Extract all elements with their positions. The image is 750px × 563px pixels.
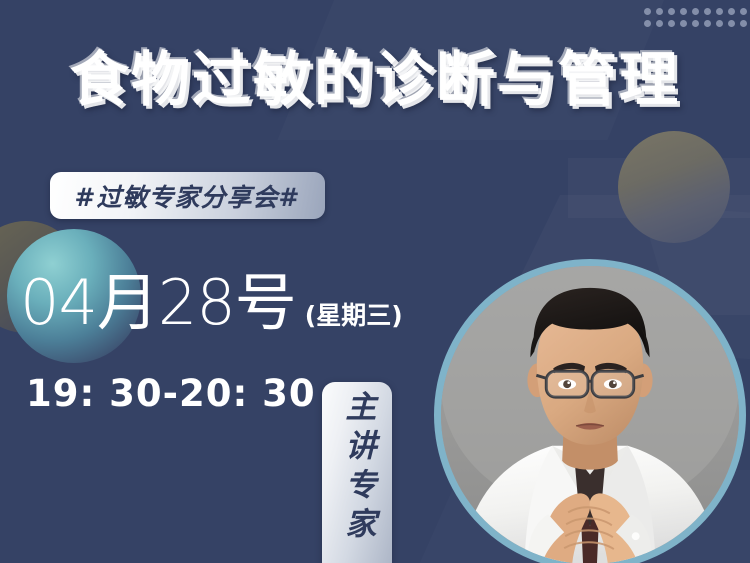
speaker-label-text: 主讲专家 [342,390,373,546]
dot [728,20,735,27]
dot [656,20,663,27]
dot [704,8,711,15]
dot [680,20,687,27]
rect-shape-right [568,158,750,218]
dot [704,20,711,27]
doctor-portrait-icon [441,266,739,563]
dot [644,20,651,27]
dot [644,8,651,15]
event-date-weekday: (星期三) [305,303,403,328]
event-time: 19: 30-20: 30 [26,372,316,415]
event-date-main: 04月28号 [20,272,296,334]
webinar-poster: 食物过敏的诊断与管理 #过敏专家分享会# 04月28号 (星期三) 19: 30… [0,0,750,563]
hashtag-badge: #过敏专家分享会# [50,172,325,219]
dot [668,20,675,27]
dot [740,8,747,15]
dot [680,8,687,15]
event-date: 04月28号 (星期三) [20,272,403,334]
dot [716,20,723,27]
dot [692,8,699,15]
page-title: 食物过敏的诊断与管理 [0,32,750,117]
speaker-portrait-ring [434,259,746,563]
dot [668,8,675,15]
dot-grid-decoration [641,5,749,29]
dot [728,8,735,15]
speaker-label-panel: 主讲专家 [322,382,392,563]
dot [740,20,747,27]
hashtag-badge-label: #过敏专家分享会# [75,178,301,214]
dot [692,20,699,27]
dot [656,8,663,15]
decor-circle-olive-right [618,131,730,243]
dot [716,8,723,15]
speaker-portrait [441,266,739,563]
